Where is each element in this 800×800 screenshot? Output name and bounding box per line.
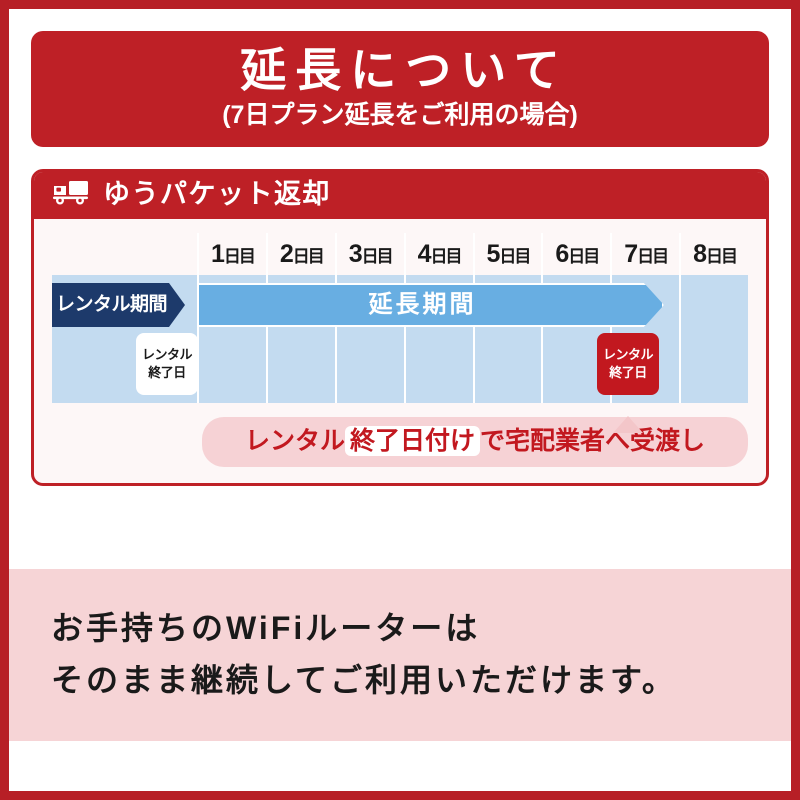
bottom-message-band: お手持ちのWiFiルーターは そのまま継続してご利用いただけます。 bbox=[9, 569, 791, 741]
rental-end-badge-original: レンタル 終了日 bbox=[136, 333, 198, 395]
timeline: 1日目 2日目 3日目 4日目 5日目 6日目 7日目 8日目 bbox=[52, 233, 748, 467]
day-suffix-3: 日目 bbox=[362, 247, 392, 266]
timeline-day-header: 1日目 2日目 3日目 4日目 5日目 6日目 7日目 8日目 bbox=[52, 233, 748, 275]
page-subtitle: (7日プラン延長をご利用の場合) bbox=[41, 99, 759, 132]
day-header-spacer bbox=[52, 233, 197, 275]
title-banner: 延長について (7日プラン延長をご利用の場合) bbox=[31, 31, 769, 147]
badge-red-line1: レンタル bbox=[603, 346, 653, 364]
day-suffix-6: 日目 bbox=[568, 247, 598, 266]
grid-column-4 bbox=[404, 275, 473, 403]
page-title: 延長について bbox=[41, 45, 759, 97]
day-number-8: 8 bbox=[693, 240, 706, 268]
day-suffix-4: 日目 bbox=[431, 247, 461, 266]
day-label-4: 4日目 bbox=[404, 233, 473, 275]
card-header-label: ゆうパケット返却 bbox=[103, 181, 331, 208]
day-suffix-8: 日目 bbox=[706, 247, 736, 266]
callout-wrapper: レンタル終了日付けで宅配業者へ受渡し bbox=[52, 417, 748, 467]
day-number-1: 1 bbox=[211, 240, 224, 268]
grid-column-3 bbox=[335, 275, 404, 403]
day-label-3: 3日目 bbox=[335, 233, 404, 275]
callout-pointer-triangle bbox=[613, 416, 643, 433]
day-label-7: 7日目 bbox=[610, 233, 679, 275]
grid-column-5 bbox=[473, 275, 542, 403]
day-number-6: 6 bbox=[555, 240, 568, 268]
bottom-message-line2: そのまま継続してご利用いただけます。 bbox=[51, 655, 677, 707]
day-label-5: 5日目 bbox=[473, 233, 542, 275]
rental-end-badge-extended: レンタル 終了日 bbox=[597, 333, 659, 395]
card-body: 1日目 2日目 3日目 4日目 5日目 6日目 7日目 8日目 bbox=[34, 219, 766, 483]
day-number-3: 3 bbox=[349, 240, 362, 268]
day-suffix-1: 日目 bbox=[224, 247, 254, 266]
day-label-2: 2日目 bbox=[266, 233, 335, 275]
grid-column-1 bbox=[197, 275, 266, 403]
handover-callout: レンタル終了日付けで宅配業者へ受渡し bbox=[202, 417, 748, 467]
day-number-4: 4 bbox=[418, 240, 431, 268]
delivery-truck-icon bbox=[52, 179, 90, 210]
bottom-message: お手持ちのWiFiルーターは そのまま継続してご利用いただけます。 bbox=[51, 603, 677, 707]
day-label-8: 8日目 bbox=[679, 233, 748, 275]
callout-part1: レンタル bbox=[245, 427, 345, 455]
callout-highlight: 終了日付け bbox=[345, 426, 480, 456]
callout-part2: で宅配業者へ受渡し bbox=[480, 427, 705, 455]
badge-white-line1: レンタル bbox=[142, 346, 192, 364]
bottom-message-line1: お手持ちのWiFiルーターは bbox=[51, 603, 677, 655]
day-label-1: 1日目 bbox=[197, 233, 266, 275]
day-number-7: 7 bbox=[624, 240, 637, 268]
day-suffix-5: 日目 bbox=[499, 247, 529, 266]
infographic-frame: 延長について (7日プラン延長をご利用の場合) ゆうパケット返却 bbox=[0, 0, 800, 800]
day-number-5: 5 bbox=[486, 240, 499, 268]
timeline-grid: レンタル期間 延長期間 レンタル 終了日 レンタル 終了日 bbox=[52, 275, 748, 403]
badge-white-line2: 終了日 bbox=[148, 364, 186, 382]
card-header: ゆうパケット返却 bbox=[34, 172, 766, 219]
day-label-6: 6日目 bbox=[541, 233, 610, 275]
day-suffix-7: 日目 bbox=[637, 247, 667, 266]
badge-red-line2: 終了日 bbox=[609, 364, 647, 382]
day-number-2: 2 bbox=[280, 240, 293, 268]
grid-column-8 bbox=[679, 275, 748, 403]
return-method-card: ゆうパケット返却 1日目 2日目 3日目 4日目 5日目 6日目 7日目 8日目 bbox=[31, 169, 769, 486]
grid-column-2 bbox=[266, 275, 335, 403]
day-suffix-2: 日目 bbox=[293, 247, 323, 266]
